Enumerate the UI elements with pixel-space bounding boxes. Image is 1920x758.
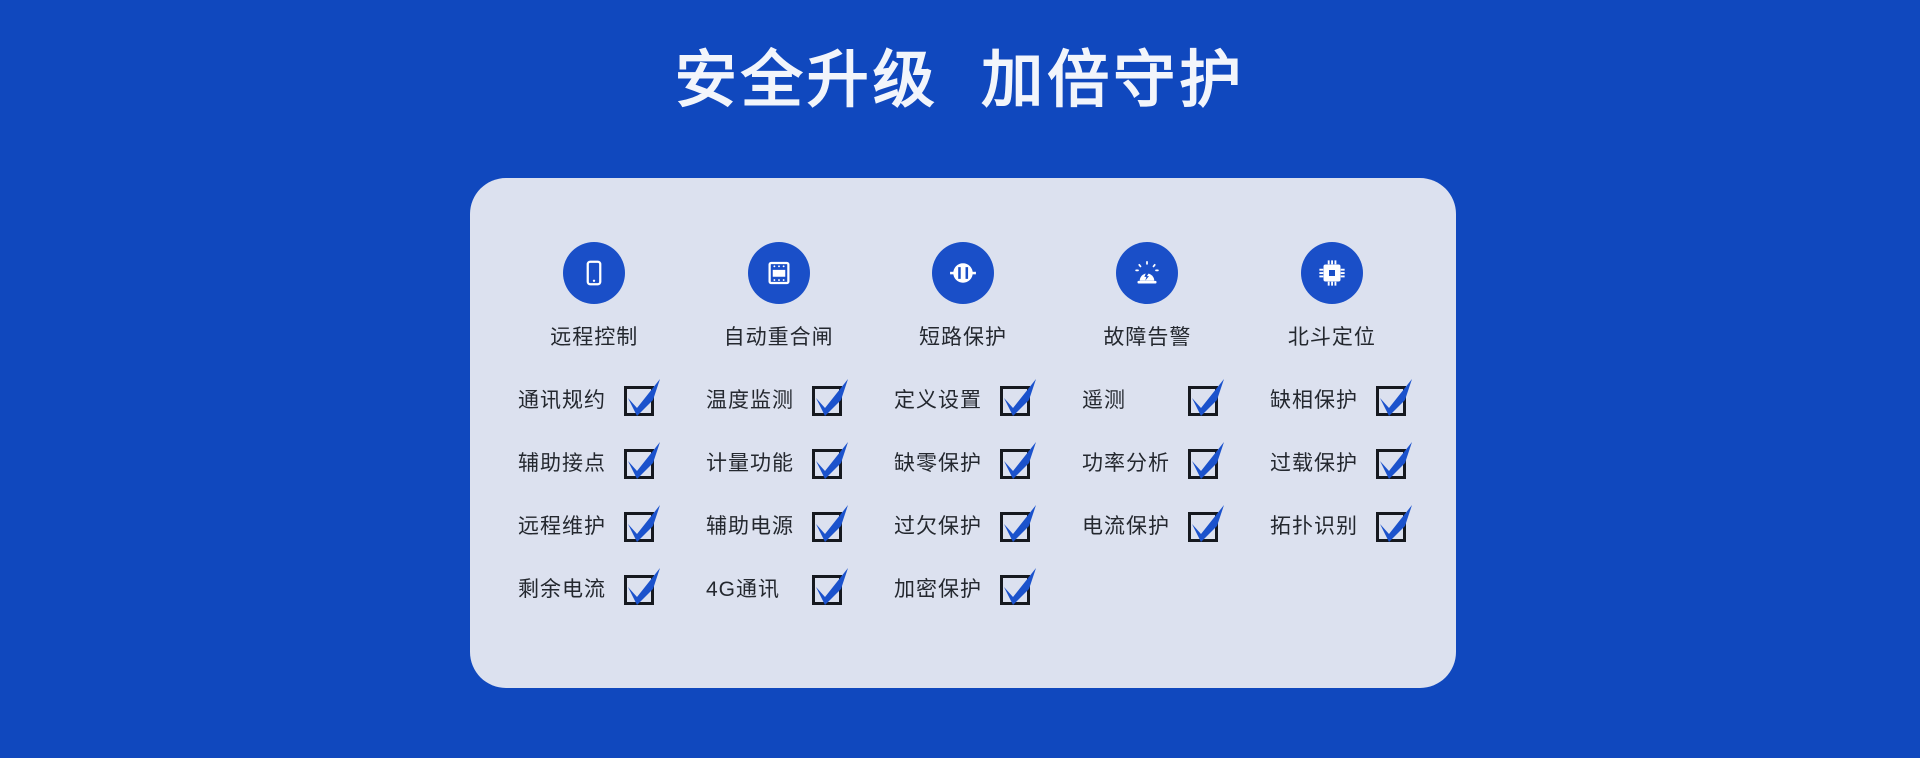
- circuit-breaker-icon: [748, 242, 810, 304]
- checklist-grid: 通讯规约 温度监测 定义设置 遥测: [518, 374, 1416, 626]
- checklist-item[interactable]: 过载保护: [1270, 445, 1458, 479]
- checklist-row: 通讯规约 温度监测 定义设置 遥测: [518, 374, 1416, 424]
- checklist-item-label: 温度监测: [706, 384, 798, 414]
- feature-label: 自动重合闸: [724, 321, 834, 351]
- page-title: 安全升级 加倍守护: [0, 42, 1920, 120]
- checkmark-icon[interactable]: [624, 382, 658, 416]
- checklist-item[interactable]: 计量功能: [706, 445, 894, 479]
- checklist-item[interactable]: 遥测: [1082, 382, 1270, 416]
- checklist-item-label: 计量功能: [706, 447, 798, 477]
- checklist-item[interactable]: 通讯规约: [518, 382, 706, 416]
- checklist-item-label: 远程维护: [518, 510, 610, 540]
- checklist-item-label: 电流保护: [1082, 510, 1174, 540]
- checklist-item[interactable]: 温度监测: [706, 382, 894, 416]
- feature-remote-control[interactable]: 远程控制: [502, 242, 686, 351]
- checkmark-icon[interactable]: [1376, 445, 1410, 479]
- checkmark-icon[interactable]: [812, 508, 846, 542]
- checklist-item-label: 拓扑识别: [1270, 510, 1362, 540]
- checkmark-icon[interactable]: [1376, 382, 1410, 416]
- checkmark-icon[interactable]: [624, 508, 658, 542]
- checkmark-icon[interactable]: [1188, 445, 1222, 479]
- checkmark-icon[interactable]: [624, 571, 658, 605]
- checklist-item[interactable]: 远程维护: [518, 508, 706, 542]
- checklist-item-label: 遥测: [1082, 384, 1174, 414]
- feature-label: 北斗定位: [1288, 321, 1376, 351]
- chip-icon: [1301, 242, 1363, 304]
- short-circuit-icon: [932, 242, 994, 304]
- checklist-item[interactable]: 功率分析: [1082, 445, 1270, 479]
- checklist-item[interactable]: 缺相保护: [1270, 382, 1458, 416]
- checklist-item-label: 加密保护: [894, 573, 986, 603]
- checkmark-icon[interactable]: [1188, 382, 1222, 416]
- checkmark-icon[interactable]: [1000, 571, 1034, 605]
- checklist-item[interactable]: 电流保护: [1082, 508, 1270, 542]
- checklist-row: 远程维护 辅助电源 过欠保护 电流保护: [518, 500, 1416, 550]
- checklist-item[interactable]: 辅助接点: [518, 445, 706, 479]
- checklist-item-label: 功率分析: [1082, 447, 1174, 477]
- checklist-item[interactable]: 定义设置: [894, 382, 1082, 416]
- feature-icon-row: 远程控制 自动重合闸: [502, 242, 1424, 351]
- checklist-item-label: 剩余电流: [518, 573, 610, 603]
- checklist-item-label: 通讯规约: [518, 384, 610, 414]
- checkmark-icon[interactable]: [812, 445, 846, 479]
- checklist-item[interactable]: 过欠保护: [894, 508, 1082, 542]
- checklist-item-label: 辅助电源: [706, 510, 798, 540]
- checkmark-icon[interactable]: [1000, 445, 1034, 479]
- checkmark-icon[interactable]: [812, 571, 846, 605]
- checkmark-icon[interactable]: [812, 382, 846, 416]
- checklist-item[interactable]: 拓扑识别: [1270, 508, 1458, 542]
- checkmark-icon[interactable]: [1376, 508, 1410, 542]
- checkmark-icon[interactable]: [1000, 382, 1034, 416]
- checkmark-icon[interactable]: [624, 445, 658, 479]
- alarm-siren-icon: [1116, 242, 1178, 304]
- feature-label: 短路保护: [919, 321, 1007, 351]
- checklist-item-label: 过载保护: [1270, 447, 1362, 477]
- checklist-item[interactable]: 辅助电源: [706, 508, 894, 542]
- checkmark-icon[interactable]: [1000, 508, 1034, 542]
- checklist-item-label: 4G通讯: [706, 573, 798, 603]
- feature-short-circuit-protection[interactable]: 短路保护: [871, 242, 1055, 351]
- checklist-row: 剩余电流 4G通讯 加密保护: [518, 563, 1416, 613]
- checklist-item-label: 辅助接点: [518, 447, 610, 477]
- feature-fault-alarm[interactable]: 故障告警: [1055, 242, 1239, 351]
- checkmark-icon[interactable]: [1188, 508, 1222, 542]
- feature-label: 远程控制: [550, 321, 638, 351]
- checklist-item-label: 缺相保护: [1270, 384, 1362, 414]
- mobile-phone-icon: [563, 242, 625, 304]
- checklist-item-label: 过欠保护: [894, 510, 986, 540]
- checklist-item-label: 缺零保护: [894, 447, 986, 477]
- feature-beidou-positioning[interactable]: 北斗定位: [1240, 242, 1424, 351]
- checklist-item[interactable]: 剩余电流: [518, 571, 706, 605]
- feature-label: 故障告警: [1103, 321, 1191, 351]
- checklist-item[interactable]: 缺零保护: [894, 445, 1082, 479]
- checklist-item[interactable]: 4G通讯: [706, 571, 894, 605]
- feature-auto-reclose[interactable]: 自动重合闸: [686, 242, 870, 351]
- checklist-row: 辅助接点 计量功能 缺零保护 功率分析: [518, 437, 1416, 487]
- feature-card: 远程控制 自动重合闸: [470, 178, 1456, 688]
- checklist-item[interactable]: 加密保护: [894, 571, 1082, 605]
- checklist-item-label: 定义设置: [894, 384, 986, 414]
